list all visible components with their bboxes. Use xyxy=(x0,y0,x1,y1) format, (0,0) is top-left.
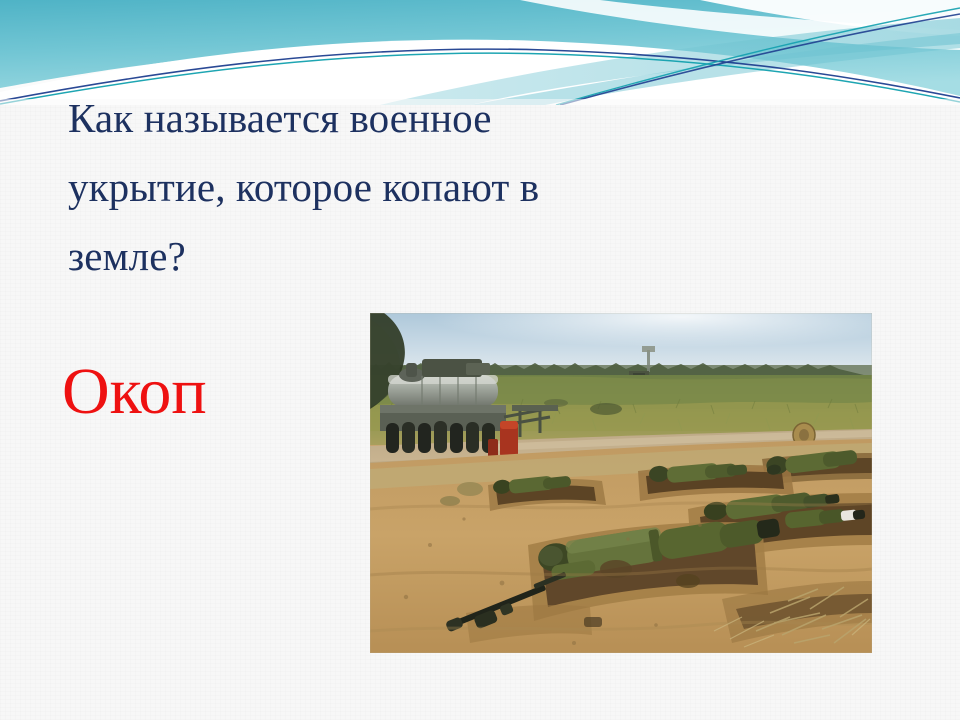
title-line-2: укрытие, которое копают в xyxy=(68,153,788,222)
presentation-slide: Как называется военное укрытие, которое … xyxy=(0,0,960,720)
slide-title: Как называется военное укрытие, которое … xyxy=(68,84,788,291)
answer-text: Окоп xyxy=(62,352,207,432)
title-line-3: земле? xyxy=(68,222,788,291)
soldiers-in-foxholes-photo xyxy=(370,313,872,653)
title-line-1: Как называется военное xyxy=(68,84,788,153)
